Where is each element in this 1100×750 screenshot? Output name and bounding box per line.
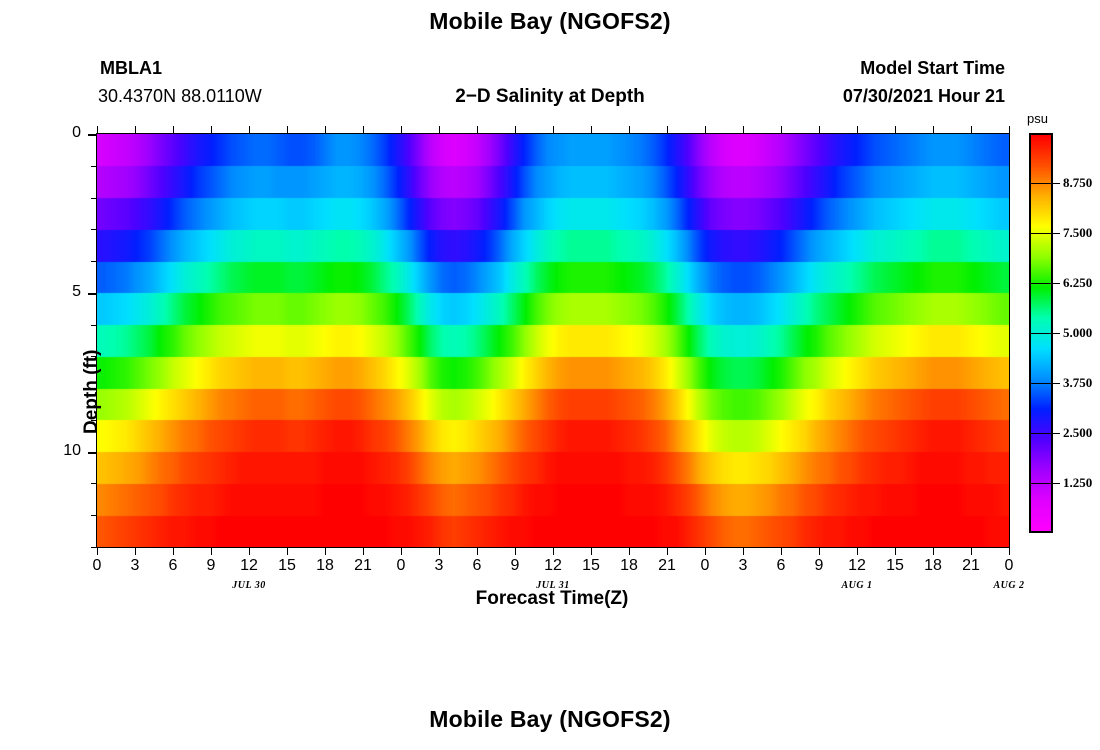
x-axis-tick-label: 12 [234, 557, 264, 575]
x-axis-tick-label: 9 [500, 557, 530, 575]
x-axis-tick [363, 547, 364, 555]
x-axis-tick-label: 6 [158, 557, 188, 575]
x-axis-tick-label: 9 [804, 557, 834, 575]
x-axis-tick-label: 9 [196, 557, 226, 575]
y-axis-minor-tick [91, 229, 97, 230]
x-axis-tick-top [401, 126, 402, 134]
x-axis-tick [933, 547, 934, 555]
y-axis-minor-tick [91, 261, 97, 262]
x-axis-tick [591, 547, 592, 555]
colorbar-band-separator [1029, 383, 1053, 384]
colorbar-tick-label: 1.250 [1063, 475, 1092, 491]
x-axis-tick [515, 547, 516, 555]
x-axis-tick [819, 547, 820, 555]
station-coordinates-label: 30.4370N 88.0110W [98, 86, 262, 107]
x-axis-tick [401, 547, 402, 555]
x-axis-tick [211, 547, 212, 555]
chart-subtitle: 2−D Salinity at Depth [330, 86, 770, 108]
y-axis-minor-tick [91, 483, 97, 484]
x-axis-tick [325, 547, 326, 555]
x-axis-tick-top [515, 126, 516, 134]
station-id-label: MBLA1 [100, 58, 162, 79]
colorbar-band-separator [1029, 283, 1053, 284]
x-axis-tick-label: 21 [652, 557, 682, 575]
colorbar-tick-mark [1053, 333, 1060, 334]
x-axis-tick [629, 547, 630, 555]
x-axis-tick-label: 15 [880, 557, 910, 575]
colorbar-tick-label: 2.500 [1063, 425, 1092, 441]
x-axis-tick-label: 0 [690, 557, 720, 575]
x-axis-tick-top [781, 126, 782, 134]
colorbar-band-separator [1029, 233, 1053, 234]
x-axis-tick [553, 547, 554, 555]
x-axis-tick-top [591, 126, 592, 134]
colorbar-tick-label: 5.000 [1063, 325, 1092, 341]
colorbar-tick-mark [1053, 383, 1060, 384]
x-axis-tick-top [477, 126, 478, 134]
x-axis-tick [287, 547, 288, 555]
y-axis-major-tick [88, 452, 97, 454]
x-axis-tick [477, 547, 478, 555]
x-axis-tick-top [439, 126, 440, 134]
y-axis-minor-tick [91, 198, 97, 199]
x-axis-tick [173, 547, 174, 555]
colorbar-tick-mark [1053, 433, 1060, 434]
x-axis-tick [667, 547, 668, 555]
salinity-heatmap-canvas [97, 134, 1009, 547]
x-axis-tick-label: 0 [994, 557, 1024, 575]
colorbar-band-separator [1029, 333, 1053, 334]
y-axis-tick-label: 0 [41, 124, 81, 142]
x-axis-tick-top [629, 126, 630, 134]
x-axis-tick-top [173, 126, 174, 134]
y-axis-minor-tick [91, 325, 97, 326]
x-axis-tick-label: 0 [386, 557, 416, 575]
x-axis-tick-top [97, 126, 98, 134]
colorbar-units-label: psu [1027, 111, 1048, 126]
x-axis-tick-label: 12 [842, 557, 872, 575]
x-axis-tick-top [325, 126, 326, 134]
x-axis-tick [971, 547, 972, 555]
x-axis-tick-top [705, 126, 706, 134]
colorbar-tick-mark [1053, 233, 1060, 234]
x-axis-tick-top [667, 126, 668, 134]
x-axis-tick-label: 21 [956, 557, 986, 575]
x-axis-tick-top [249, 126, 250, 134]
x-axis-tick-label: 0 [82, 557, 112, 575]
x-axis-tick-label: 6 [462, 557, 492, 575]
x-axis-tick-label: 3 [120, 557, 150, 575]
x-axis-tick [857, 547, 858, 555]
colorbar-tick-label: 7.500 [1063, 225, 1092, 241]
x-axis-tick-label: 18 [310, 557, 340, 575]
x-axis-tick-top [211, 126, 212, 134]
x-axis-tick-label: 21 [348, 557, 378, 575]
colorbar-tick-label: 3.750 [1063, 375, 1092, 391]
y-axis-minor-tick [91, 388, 97, 389]
x-axis-tick-label: 18 [614, 557, 644, 575]
x-axis-tick-label: 15 [576, 557, 606, 575]
colorbar-tick-label: 6.250 [1063, 275, 1092, 291]
x-axis-tick-label: 12 [538, 557, 568, 575]
y-axis-tick-label: 5 [41, 283, 81, 301]
colorbar-tick-mark [1053, 483, 1060, 484]
x-axis-tick [781, 547, 782, 555]
x-axis-tick-top [287, 126, 288, 134]
footer-title: Mobile Bay (NGOFS2) [0, 706, 1100, 733]
x-axis-tick-top [743, 126, 744, 134]
x-axis-tick-label: 6 [766, 557, 796, 575]
x-axis-tick [249, 547, 250, 555]
y-axis-major-tick [88, 134, 97, 136]
colorbar: 8.7507.5006.2505.0003.7502.5001.250 [1029, 133, 1053, 533]
x-axis-tick-top [135, 126, 136, 134]
x-axis-tick-top [895, 126, 896, 134]
x-axis-label: Forecast Time(Z) [96, 588, 1008, 610]
x-axis-tick-top [819, 126, 820, 134]
page-title: Mobile Bay (NGOFS2) [0, 8, 1100, 35]
x-axis-tick [1009, 547, 1010, 555]
y-axis-minor-tick [91, 166, 97, 167]
y-axis-minor-tick [91, 515, 97, 516]
colorbar-band-separator [1029, 433, 1053, 434]
x-axis-tick-label: 3 [728, 557, 758, 575]
x-axis-tick [895, 547, 896, 555]
x-axis-tick-top [1009, 126, 1010, 134]
x-axis-tick [705, 547, 706, 555]
colorbar-tick-label: 8.750 [1063, 175, 1092, 191]
model-start-time-value: 07/30/2021 Hour 21 [740, 86, 1005, 107]
x-axis-tick-top [933, 126, 934, 134]
model-start-time-label: Model Start Time [760, 58, 1005, 79]
colorbar-band-separator [1029, 483, 1053, 484]
x-axis-tick-top [971, 126, 972, 134]
y-axis-minor-tick [91, 420, 97, 421]
x-axis-tick-top [857, 126, 858, 134]
x-axis-tick-label: 18 [918, 557, 948, 575]
x-axis-tick-label: 15 [272, 557, 302, 575]
heatmap-plot-area: Depth (ft) 0510 036912151821036912151821… [96, 133, 1010, 548]
y-axis-label: Depth (ft) [81, 350, 103, 434]
x-axis-tick-label: 3 [424, 557, 454, 575]
colorbar-tick-mark [1053, 283, 1060, 284]
x-axis-tick [439, 547, 440, 555]
y-axis-tick-label: 10 [41, 442, 81, 460]
x-axis-tick [135, 547, 136, 555]
x-axis-tick-top [363, 126, 364, 134]
y-axis-major-tick [88, 293, 97, 295]
colorbar-tick-mark [1053, 183, 1060, 184]
x-axis-tick [743, 547, 744, 555]
y-axis-minor-tick [91, 356, 97, 357]
x-axis-tick-top [553, 126, 554, 134]
x-axis-tick [97, 547, 98, 555]
colorbar-band-separator [1029, 183, 1053, 184]
